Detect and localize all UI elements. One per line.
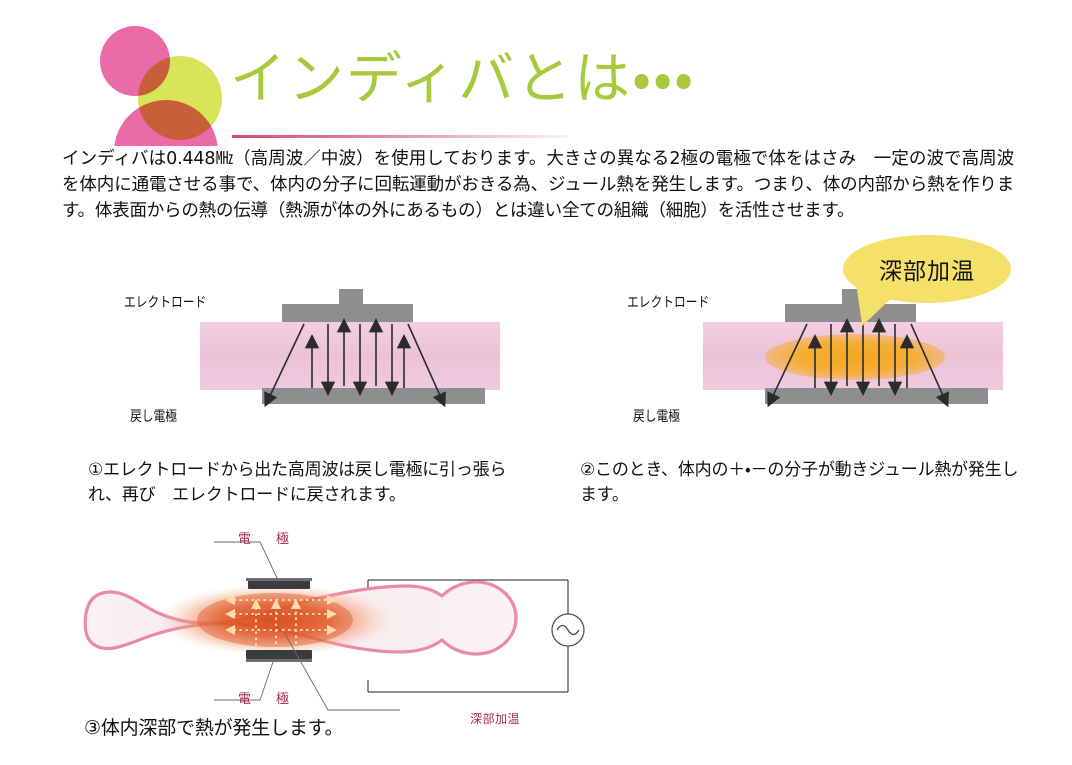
diagram1-electrode-stem <box>339 289 363 306</box>
page-title: インディバとは・・・ <box>230 52 695 108</box>
caption-step-1-text: ①エレクトロードから出た高周波は戻し電極に引っ張られ、再び エレクトロードに戻さ… <box>88 458 538 508</box>
caption-step-2-text: ②このとき、体内の＋・－の分子が動きジュール熱が発生します。 <box>580 458 1030 508</box>
body-electrode-bottom-label: 電 極 <box>238 688 295 707</box>
brand-logo <box>96 24 228 146</box>
deep-heat-speech-bubble: 深部加温 <box>843 235 1011 303</box>
ac-source-icon <box>552 614 584 646</box>
caption-step-1: ①エレクトロードから出た高周波は戻し電極に引っ張られ、再び エレクトロードに戻さ… <box>88 458 538 508</box>
diagram2-electrode-label: エレクトロード <box>627 292 709 312</box>
deep-heat-glow <box>157 584 393 656</box>
diagram1-return-plate <box>262 388 485 404</box>
diagram2-return-label: 戻し電極 <box>633 406 680 426</box>
body-electrode-top <box>248 580 310 589</box>
intro-text: インディバは0.448㎒（高周波／中波）を使用しております。大きさの異なる2極の… <box>62 146 1014 224</box>
body-electrode-bottom <box>246 650 312 659</box>
title-divider <box>232 135 568 138</box>
caption-step-3: ③体内深部で熱が発生します。 <box>84 716 514 741</box>
caption-step-2: ②このとき、体内の＋・－の分子が動きジュール熱が発生します。 <box>580 458 1030 508</box>
poster-page: インディバとは・・・ インディバは0.448㎒（高周波／中波）を使用しております… <box>0 0 1072 765</box>
caption-step-3-text: ③体内深部で熱が発生します。 <box>84 716 514 741</box>
diagram-step-2: エレクトロード 戻し電極 <box>615 282 1045 457</box>
body-electrode-top-label: 電 極 <box>238 528 295 547</box>
logo-clip <box>96 24 228 146</box>
diagram1-electrode-plate <box>282 304 413 322</box>
diagram1-return-label: 戻し電極 <box>130 406 177 426</box>
deep-heat-bubble-label: 深部加温 <box>879 252 975 286</box>
diagram-step-1: エレクトロード 戻し電極 <box>112 282 542 457</box>
intro-paragraph: インディバは0.448㎒（高周波／中波）を使用しております。大きさの異なる2極の… <box>62 146 1014 224</box>
logo-green-circle-icon <box>138 56 222 140</box>
diagram1-tissue-band <box>200 322 500 390</box>
diagram2-return-plate <box>765 388 988 404</box>
diagram2-deep-heat-zone <box>765 334 945 380</box>
diagram1-electrode-label: エレクトロード <box>124 292 206 312</box>
